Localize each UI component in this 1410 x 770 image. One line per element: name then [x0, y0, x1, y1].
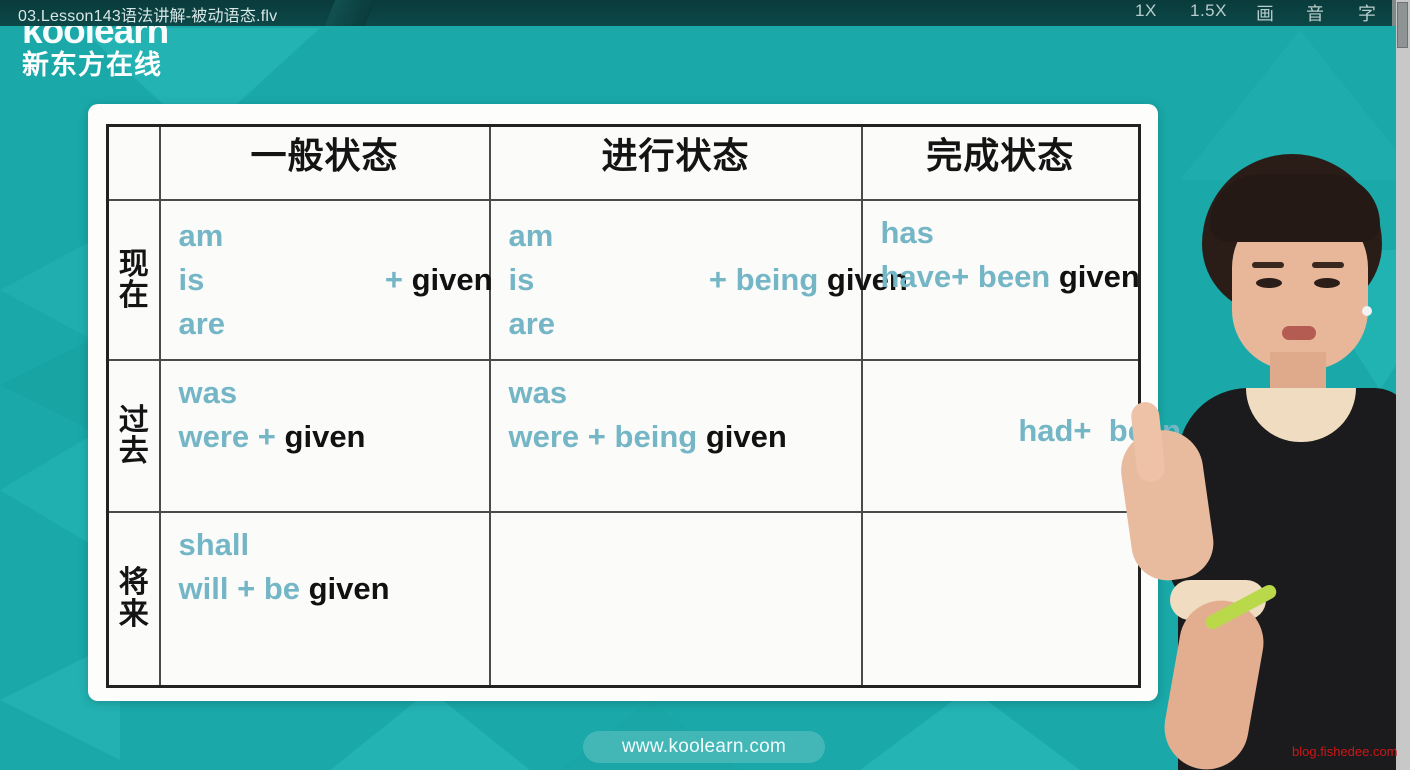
row-label-char: 过: [119, 405, 149, 437]
column-header-label: 进行状态: [491, 127, 861, 179]
future-simple-formula: shall will + be given: [179, 523, 489, 611]
passive-voice-table: 一般状态 进行状态 完成状态 现 在: [106, 124, 1141, 688]
participle: given: [309, 571, 390, 606]
table-row: 将 来 shall will + be given: [108, 512, 1140, 686]
formula-middle: + given: [225, 226, 493, 334]
cell-past-perfect: had+ been given: [862, 360, 1140, 512]
cell-present-perfect: has have+ been given: [862, 200, 1140, 360]
row-label-text: 过 去: [109, 361, 159, 511]
row-label-char: 将: [119, 567, 149, 599]
subject-stack: am is are: [179, 214, 226, 346]
column-header-simple: 一般状态: [160, 126, 490, 201]
video-player-window: 03.Lesson143语法讲解-被动语态.flv 1X 1.5X 画 音 字 …: [0, 0, 1410, 770]
row-label-text: 现 在: [109, 201, 159, 359]
been-word: been: [978, 259, 1050, 294]
bg-triangle: [0, 430, 100, 550]
row-label-char: 现: [119, 249, 149, 281]
row-label-future: 将 来: [108, 512, 160, 686]
cell-past-simple: was were + given: [160, 360, 490, 512]
aux-verb: is: [179, 258, 226, 302]
window-title: 03.Lesson143语法讲解-被动语态.flv: [18, 2, 277, 26]
aux-verb: had+: [1018, 413, 1091, 448]
formula-middle: + being given: [555, 226, 908, 334]
footer-url-pill: www.koolearn.com: [583, 731, 825, 763]
scrollbar-thumb[interactable]: [1397, 2, 1408, 48]
video-track-button[interactable]: 画: [1256, 0, 1275, 26]
table-header-row: 一般状态 进行状态 完成状态: [108, 126, 1140, 201]
speed-1-5x-button[interactable]: 1.5X: [1190, 1, 1227, 21]
plus-sign: +: [237, 571, 255, 606]
empty-cell: [491, 513, 861, 685]
aux-verb: are: [509, 302, 556, 346]
title-bar: 03.Lesson143语法讲解-被动语态.flv 1X 1.5X 画 音 字: [0, 0, 1410, 26]
aux-line: were + given: [179, 415, 489, 459]
logo-chinese-name: 新东方在线: [22, 50, 168, 80]
aux-line: have+ been given: [881, 255, 1139, 299]
plus-sign: +: [709, 262, 727, 297]
bg-triangle: [1290, 250, 1410, 390]
participle: given: [412, 262, 493, 297]
aux-verb: was: [179, 371, 489, 415]
footer-url-text: www.koolearn.com: [622, 736, 786, 758]
whiteboard-slide: 一般状态 进行状态 完成状态 现 在: [88, 104, 1158, 701]
column-header-label: 完成状态: [863, 127, 1139, 179]
aux-verb: were: [179, 419, 250, 454]
participle: given: [706, 419, 787, 454]
cell-future-perfect-empty: [862, 512, 1140, 686]
aux-verb: are: [179, 302, 226, 346]
subtitle-track-button[interactable]: 字: [1358, 0, 1377, 26]
aux-verb: were: [509, 419, 580, 454]
aux-verb: am: [179, 214, 226, 258]
watermark-text: blog.fishedee.com: [1292, 744, 1398, 759]
aux-verb: was: [509, 371, 861, 415]
plus-sign: +: [588, 419, 606, 454]
aux-verb: shall: [179, 523, 489, 567]
plus-sign: +: [258, 419, 276, 454]
formula: has have+ been given: [863, 201, 1139, 359]
formula: was were + given: [161, 361, 489, 511]
row-label-char: 去: [119, 436, 149, 468]
aux-line: were + being given: [509, 415, 861, 459]
aux-verb: has: [881, 211, 1139, 255]
table-body: 现 在 am is are + given: [108, 200, 1140, 686]
row-label-text: 将 来: [109, 513, 159, 685]
subject-stack: am is are: [509, 214, 556, 346]
cell-future-progressive-empty: [490, 512, 862, 686]
past-progressive-formula: was were + being given: [509, 371, 861, 459]
scrollbar-edge: [1392, 0, 1396, 26]
being-word: being: [615, 419, 698, 454]
empty-cell: [863, 513, 1139, 685]
aux-verb: have+: [881, 259, 970, 294]
table-header: 一般状态 进行状态 完成状态: [108, 126, 1140, 201]
past-perfect-formula: had+ been given: [881, 371, 1139, 492]
participle: given: [285, 419, 366, 454]
row-label-present: 现 在: [108, 200, 160, 360]
cell-past-progressive: was were + being given: [490, 360, 862, 512]
row-label-past: 过 去: [108, 360, 160, 512]
titlebar-accent-shape: [325, 0, 376, 26]
participle: given: [1190, 413, 1271, 448]
formula: shall will + be given: [161, 513, 489, 685]
vertical-scrollbar[interactable]: [1396, 0, 1410, 770]
column-header-label: 一般状态: [161, 127, 489, 179]
column-header-progressive: 进行状态: [490, 126, 862, 201]
table-row: 过 去 was were + given: [108, 360, 1140, 512]
past-simple-formula: was were + given: [179, 371, 489, 459]
table-row: 现 在 am is are + given: [108, 200, 1140, 360]
participle: given: [1059, 259, 1140, 294]
column-header-perfect: 完成状态: [862, 126, 1140, 201]
audio-track-button[interactable]: 音: [1306, 0, 1325, 26]
row-label-char: 在: [119, 280, 149, 312]
aux-verb: will: [179, 571, 229, 606]
cell-present-progressive: am is are + being given: [490, 200, 862, 360]
being-word: being: [736, 262, 819, 297]
perfect-formula: has have+ been given: [881, 211, 1139, 299]
row-label-char: 来: [119, 599, 149, 631]
bg-triangle: [1180, 30, 1410, 180]
speed-1x-button[interactable]: 1X: [1135, 1, 1157, 21]
table-corner-cell: [108, 126, 160, 201]
be-word: be: [264, 571, 300, 606]
bg-triangle: [330, 690, 530, 770]
formula: am is are + given: [161, 201, 489, 359]
been-word: been: [1109, 413, 1181, 448]
aux-line: will + be given: [179, 567, 489, 611]
formula: had+ been given: [863, 361, 1139, 511]
plus-sign: +: [385, 262, 403, 297]
cell-future-simple: shall will + be given: [160, 512, 490, 686]
formula: am is are + being given: [491, 201, 861, 359]
cell-present-simple: am is are + given: [160, 200, 490, 360]
aux-verb: am: [509, 214, 556, 258]
aux-verb: is: [509, 258, 556, 302]
formula: was were + being given: [491, 361, 861, 511]
